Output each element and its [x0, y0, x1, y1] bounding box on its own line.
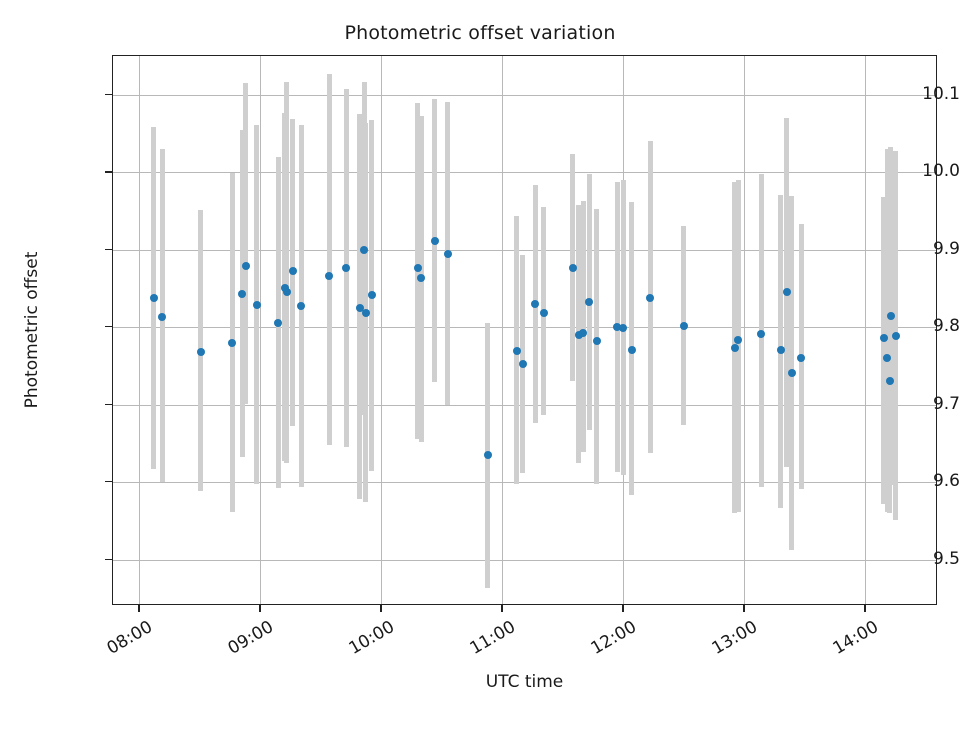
y-axis-tick-label: 10.0	[874, 161, 960, 181]
gridline-vertical	[865, 56, 866, 604]
error-bar	[243, 83, 248, 404]
data-point-marker	[619, 324, 627, 332]
data-point-marker	[289, 267, 297, 275]
gridline-vertical	[502, 56, 503, 604]
data-point-marker	[646, 294, 654, 302]
data-point-marker	[783, 288, 791, 296]
y-axis-tick-label: 9.6	[874, 471, 960, 491]
error-bar	[327, 74, 332, 445]
data-point-marker	[731, 344, 739, 352]
gridline-vertical	[139, 56, 140, 604]
data-point-marker	[628, 346, 636, 354]
data-point-marker	[253, 301, 261, 309]
data-point-marker	[417, 274, 425, 282]
x-axis-tick	[259, 605, 260, 612]
chart-title: Photometric offset variation	[0, 22, 960, 44]
x-axis-tick	[380, 605, 381, 612]
y-axis-tick	[105, 94, 112, 95]
data-point-marker	[414, 264, 422, 272]
data-point-marker	[197, 348, 205, 356]
data-point-marker	[531, 300, 539, 308]
data-point-marker	[325, 272, 333, 280]
gridline-vertical	[260, 56, 261, 604]
x-axis-tick	[501, 605, 502, 612]
data-point-marker	[342, 264, 350, 272]
data-point-marker	[579, 329, 587, 337]
data-point-marker	[362, 309, 370, 317]
data-point-marker	[757, 330, 765, 338]
data-point-marker	[585, 298, 593, 306]
photometric-offset-chart: Photometric offset variation 9.59.69.79.…	[0, 0, 960, 720]
x-axis-tick	[622, 605, 623, 612]
x-axis-tick	[138, 605, 139, 612]
gridline-vertical	[381, 56, 382, 604]
y-axis-tick	[105, 404, 112, 405]
data-point-marker	[368, 291, 376, 299]
y-axis-tick-label: 9.5	[874, 549, 960, 569]
data-point-marker	[593, 337, 601, 345]
y-axis-tick-label: 9.7	[874, 394, 960, 414]
y-axis-tick	[105, 249, 112, 250]
data-point-marker	[274, 319, 282, 327]
data-point-marker	[150, 294, 158, 302]
y-axis-tick	[105, 481, 112, 482]
gridline-horizontal	[113, 95, 936, 96]
x-axis-tick	[864, 605, 865, 612]
y-axis-tick	[105, 559, 112, 560]
data-point-marker	[569, 264, 577, 272]
y-axis-label: Photometric offset	[22, 55, 46, 605]
data-point-marker	[431, 237, 439, 245]
x-axis-tick	[743, 605, 744, 612]
data-point-marker	[797, 354, 805, 362]
data-point-marker	[484, 451, 492, 459]
error-bar	[594, 209, 599, 485]
data-point-marker	[513, 347, 521, 355]
gridline-horizontal	[113, 250, 936, 251]
data-point-marker	[519, 360, 527, 368]
data-point-marker	[886, 377, 894, 385]
data-point-marker	[680, 322, 688, 330]
y-axis-tick	[105, 326, 112, 327]
data-point-marker	[228, 339, 236, 347]
y-axis-tick-label: 9.9	[874, 239, 960, 259]
plot-area	[112, 55, 937, 605]
data-point-marker	[238, 290, 246, 298]
data-point-marker	[242, 262, 250, 270]
y-axis-tick-label: 10.1	[874, 84, 960, 104]
data-point-marker	[788, 369, 796, 377]
gridline-vertical	[744, 56, 745, 604]
y-axis-tick-label: 9.8	[874, 316, 960, 336]
data-point-marker	[734, 336, 742, 344]
error-bar	[581, 201, 586, 452]
data-point-marker	[158, 313, 166, 321]
y-axis-tick	[105, 171, 112, 172]
gridline-horizontal	[113, 172, 936, 173]
gridline-horizontal	[113, 482, 936, 483]
data-point-marker	[540, 309, 548, 317]
gridline-horizontal	[113, 560, 936, 561]
x-axis-label: UTC time	[112, 672, 937, 692]
data-point-marker	[283, 288, 291, 296]
data-point-marker	[360, 246, 368, 254]
data-point-marker	[297, 302, 305, 310]
data-point-marker	[444, 250, 452, 258]
